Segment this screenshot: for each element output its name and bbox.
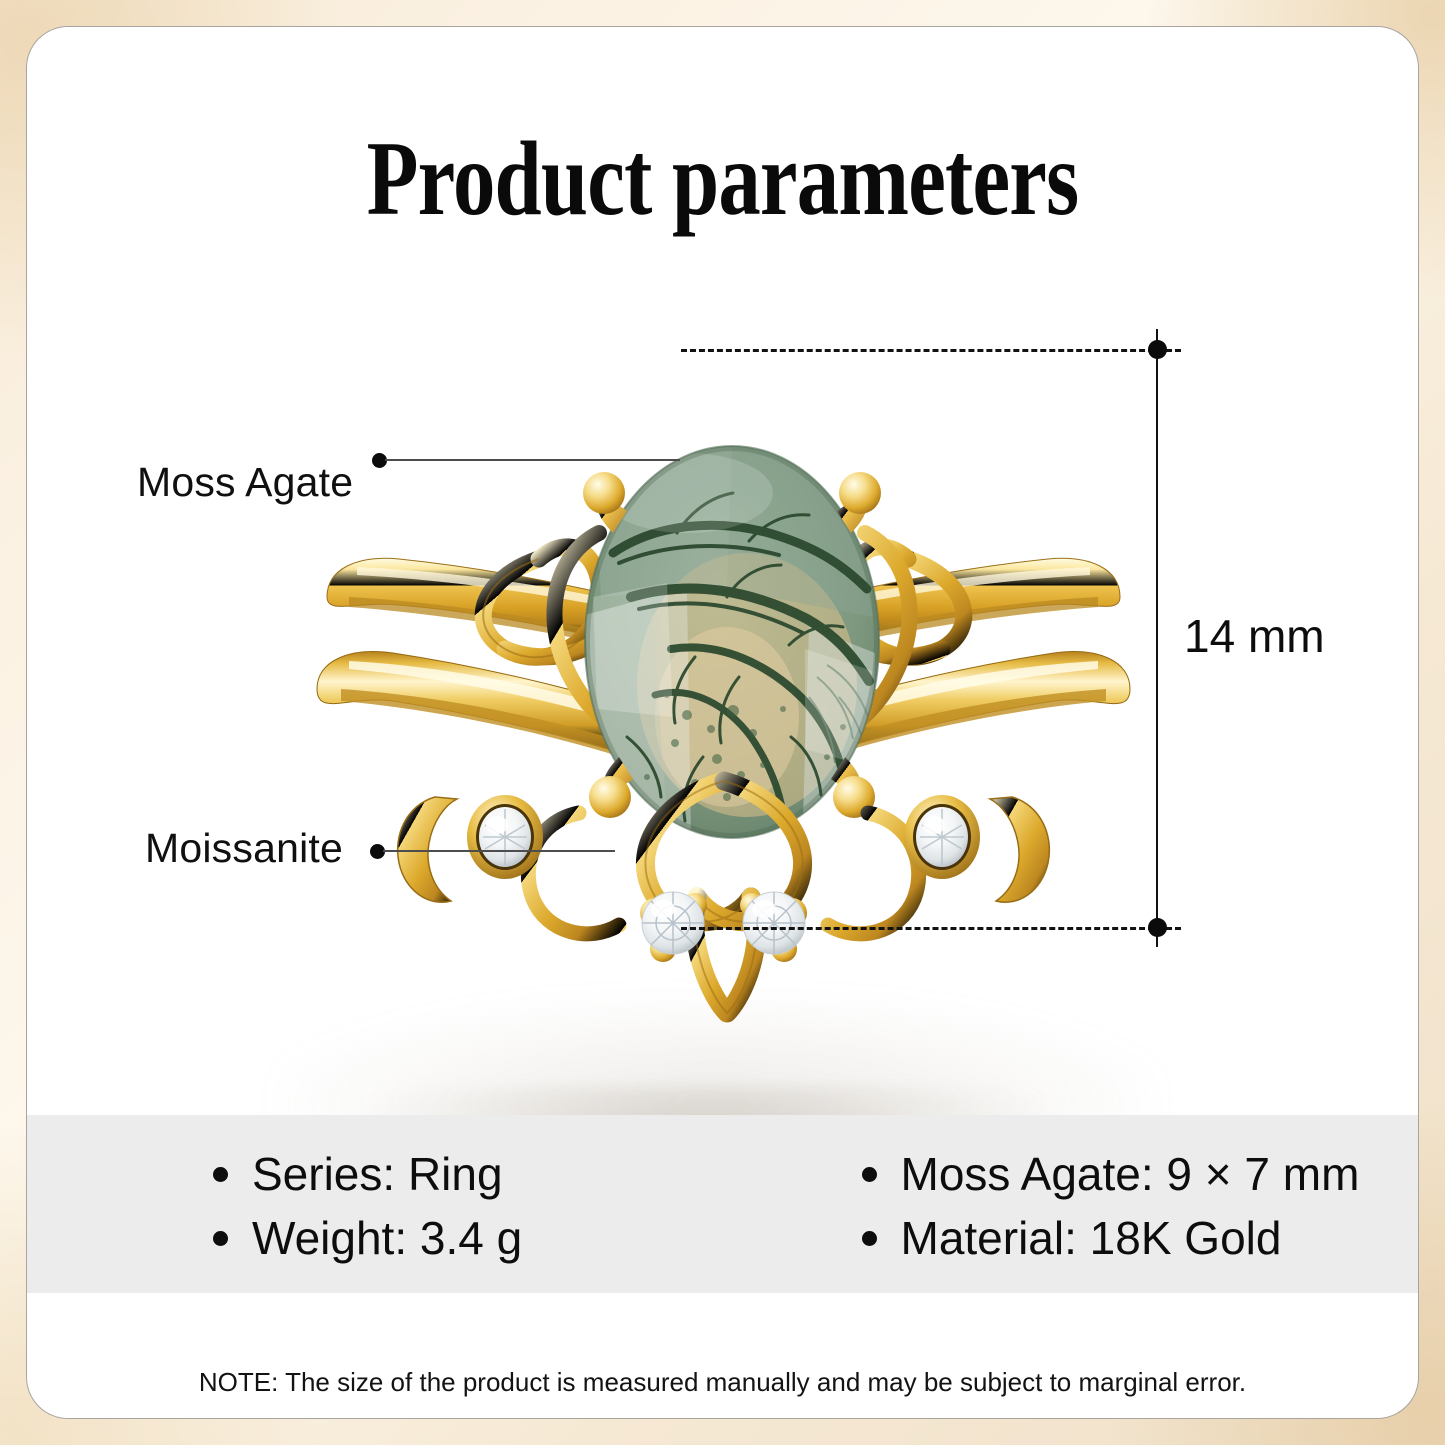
- spec-item-material: Material: 18K Gold: [816, 1211, 1419, 1265]
- dimension-value: 14 mm: [1184, 609, 1325, 663]
- callout-line-moissanite: [383, 850, 615, 852]
- callout-label-moissanite: Moissanite: [145, 825, 343, 872]
- spec-label-material: Material: 18K Gold: [901, 1211, 1282, 1265]
- bullet-icon: [862, 1167, 877, 1182]
- dimension-endpoint-top: [1148, 340, 1167, 359]
- bullet-icon: [213, 1167, 228, 1182]
- dimension-dash-bottom: [681, 927, 1181, 930]
- page-background: Product parameters: [0, 0, 1445, 1445]
- spec-item-weight: Weight: 3.4 g: [213, 1211, 816, 1265]
- callout-line-moss-agate: [385, 459, 680, 461]
- dimension-vertical-line: [1156, 329, 1158, 947]
- spec-label-series: Series: Ring: [252, 1147, 503, 1201]
- note-text: NOTE: The size of the product is measure…: [27, 1367, 1418, 1398]
- spec-label-moss-agate-size: Moss Agate: 9 × 7 mm: [901, 1147, 1360, 1201]
- page-title: Product parameters: [166, 123, 1279, 235]
- bezel-moissanite-left: [467, 795, 543, 879]
- bullet-icon: [213, 1231, 228, 1246]
- spec-item-moss-agate-size: Moss Agate: 9 × 7 mm: [816, 1147, 1419, 1201]
- crescent-moon-right: [990, 797, 1049, 902]
- bezel-moissanite-right: [904, 795, 980, 879]
- bullet-icon: [862, 1231, 877, 1246]
- callout-label-moss-agate: Moss Agate: [137, 459, 353, 506]
- dimension-dash-top: [681, 349, 1181, 352]
- ring-illustration: [27, 297, 1419, 1115]
- spec-band: Series: Ring Moss Agate: 9 × 7 mm Weight…: [27, 1115, 1418, 1293]
- dimension-endpoint-bottom: [1148, 918, 1167, 937]
- product-photo: [27, 297, 1419, 1115]
- spec-item-series: Series: Ring: [213, 1147, 816, 1201]
- spec-label-weight: Weight: 3.4 g: [252, 1211, 522, 1265]
- product-parameters-card: Product parameters: [26, 26, 1419, 1419]
